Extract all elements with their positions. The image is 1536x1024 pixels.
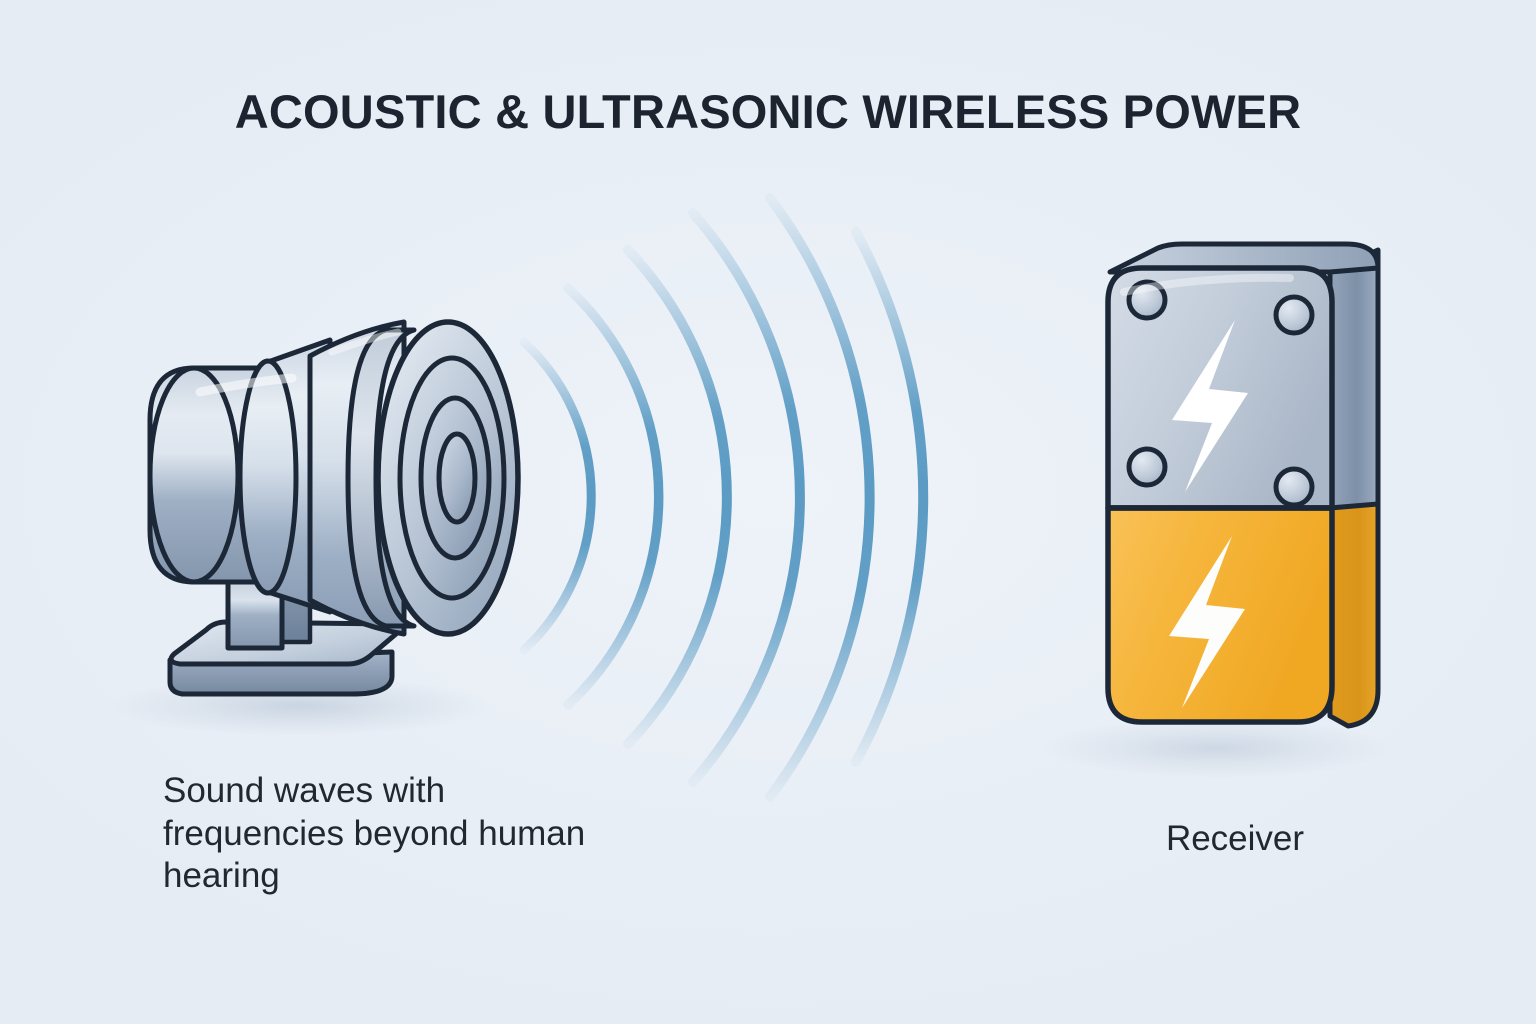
wave-arc-1 bbox=[524, 342, 591, 650]
wave-arc-3 bbox=[628, 250, 727, 744]
acoustic-wave-arcs bbox=[524, 198, 923, 797]
wave-arc-2 bbox=[568, 288, 659, 705]
receiver-screw-top-right bbox=[1276, 297, 1312, 333]
page-title: ACOUSTIC & ULTRASONIC WIRELESS POWER bbox=[0, 84, 1536, 139]
speaker-face-center-dome bbox=[439, 434, 475, 522]
receiver-side-edge-bottom bbox=[1330, 504, 1378, 726]
receiver-screw-bottom-left bbox=[1129, 449, 1165, 485]
wave-arc-5 bbox=[770, 198, 870, 797]
wave-arc-4 bbox=[693, 213, 800, 782]
transmitter-caption: Sound waves with frequencies beyond huma… bbox=[163, 770, 593, 898]
receiver-screw-bottom-right bbox=[1276, 469, 1312, 505]
ultrasonic-speaker-transducer[interactable] bbox=[150, 322, 518, 694]
receiver-side-edge-top bbox=[1330, 250, 1378, 512]
receiver-shadow bbox=[1040, 718, 1390, 778]
speaker-rear-cap bbox=[150, 368, 238, 582]
receiver-module[interactable] bbox=[1108, 244, 1378, 726]
diagram-canvas: ACOUSTIC & ULTRASONIC WIRELESS POWER Sou… bbox=[0, 0, 1536, 1024]
receiver-caption: Receiver bbox=[1000, 818, 1470, 861]
speaker-mid-joint bbox=[240, 361, 296, 593]
